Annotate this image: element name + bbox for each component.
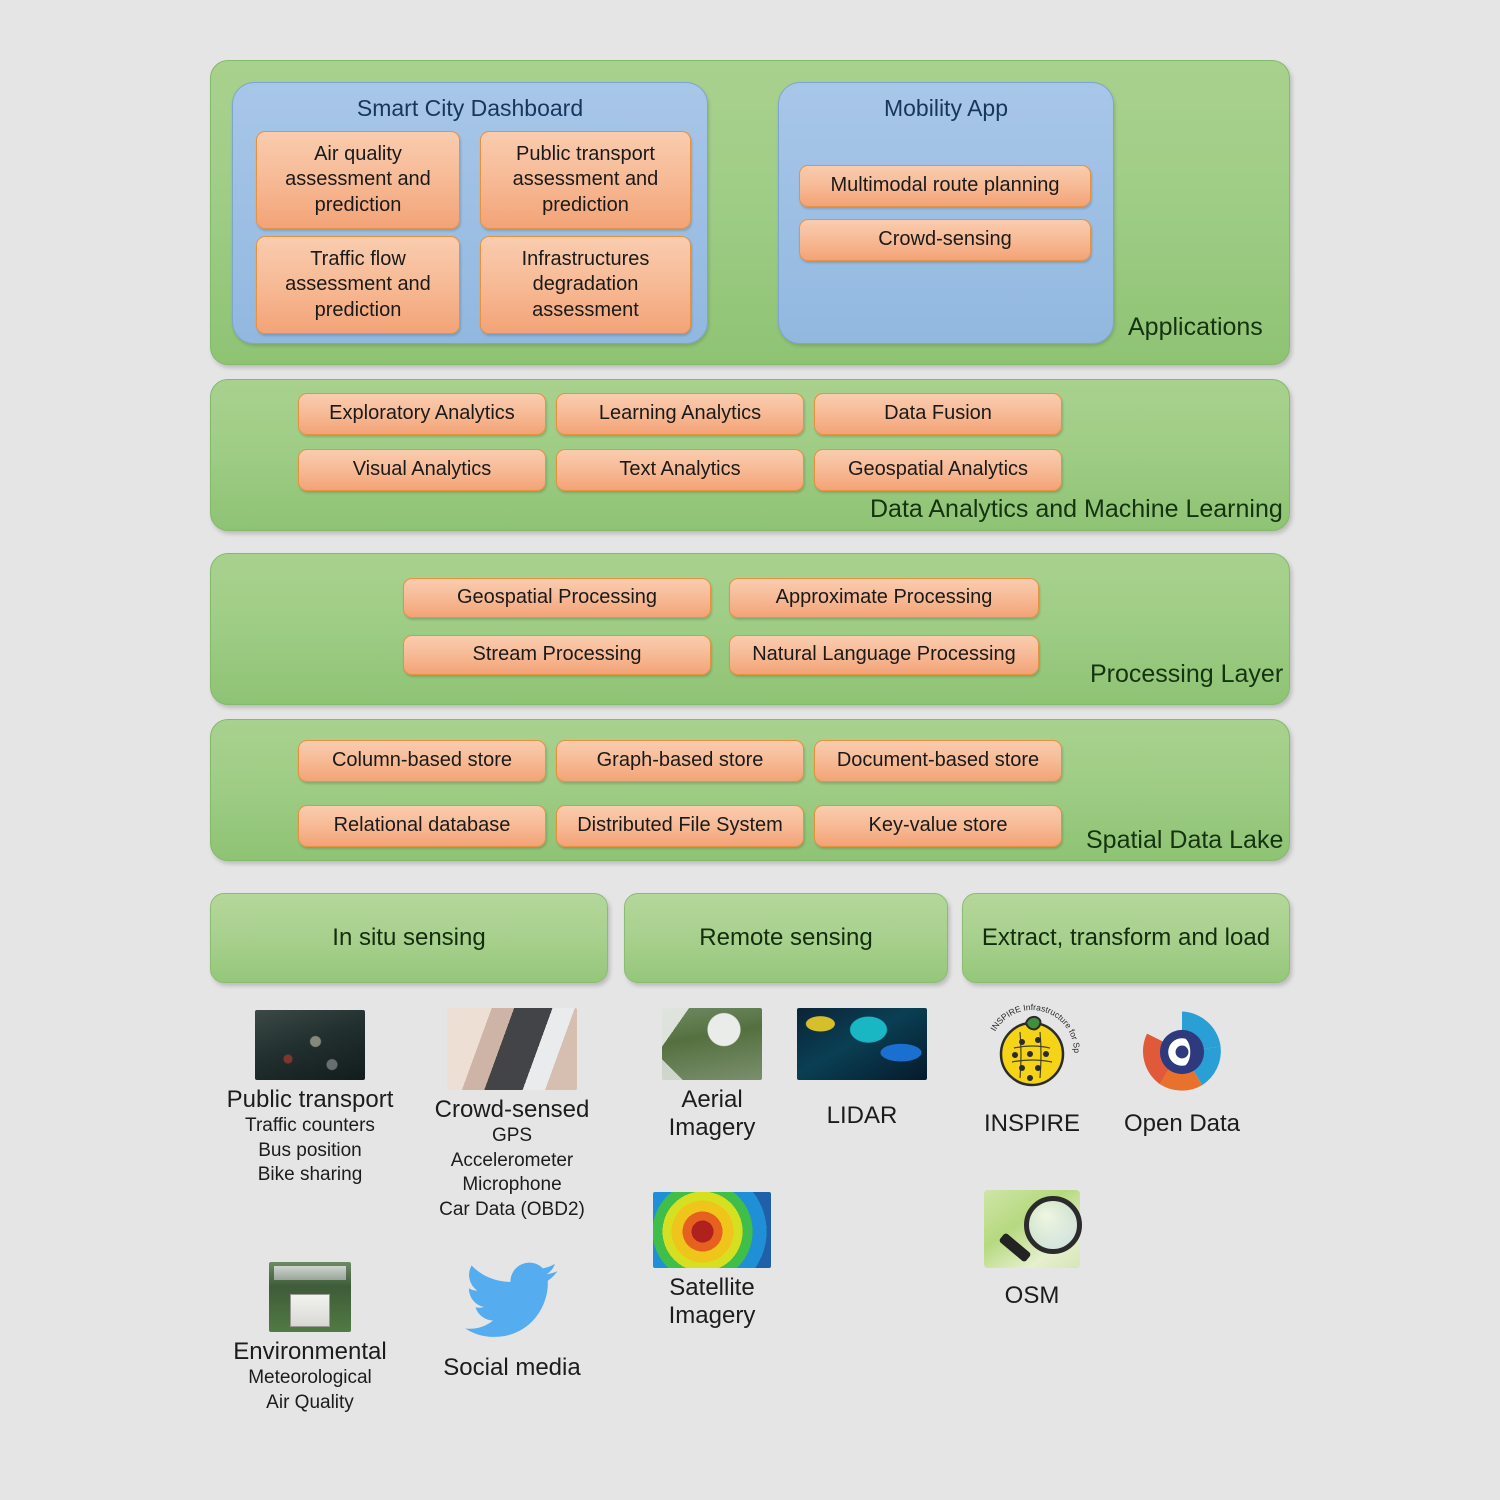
category-etl[interactable]: Extract, transform and load xyxy=(962,893,1290,983)
source-social-media: Social media xyxy=(412,1262,612,1382)
app-item-traffic-flow[interactable]: Traffic flow assessment and prediction xyxy=(256,236,460,334)
osm-map-magnifier-icon xyxy=(984,1190,1080,1268)
analytics-item-text-analytics[interactable]: Text Analytics xyxy=(556,449,804,491)
datalake-item-distributed-file-system[interactable]: Distributed File System xyxy=(556,805,804,847)
lidar-photo-icon xyxy=(797,1008,927,1080)
layer-label-applications: Applications xyxy=(1128,313,1263,342)
magnifier-lens-icon xyxy=(1024,1196,1082,1254)
source-title-social-media: Social media xyxy=(412,1354,612,1382)
datalake-item-document-based-store[interactable]: Document-based store xyxy=(814,740,1062,782)
open-data-logo-icon xyxy=(1136,1006,1228,1098)
weather-station-photo-icon xyxy=(269,1262,351,1332)
analytics-item-geospatial-analytics[interactable]: Geospatial Analytics xyxy=(814,449,1062,491)
source-detail: Air Quality xyxy=(210,1391,410,1416)
source-detail: Microphone xyxy=(412,1173,612,1198)
category-in-situ-sensing[interactable]: In situ sensing xyxy=(210,893,608,983)
traffic-photo-icon xyxy=(255,1010,365,1080)
datalake-item-key-value-store[interactable]: Key-value store xyxy=(814,805,1062,847)
app-item-infrastructures-degradation[interactable]: Infrastructures degradation assessment xyxy=(480,236,691,334)
analytics-item-learning-analytics[interactable]: Learning Analytics xyxy=(556,393,804,435)
source-title-satellite-imagery: Satellite xyxy=(612,1274,812,1302)
source-title-osm: OSM xyxy=(932,1282,1132,1310)
category-remote-sensing[interactable]: Remote sensing xyxy=(624,893,948,983)
source-detail: Traffic counters xyxy=(210,1114,410,1139)
app-item-crowd-sensing[interactable]: Crowd-sensing xyxy=(799,219,1091,261)
source-public-transport: Public transport Traffic counters Bus po… xyxy=(210,1010,410,1188)
source-title-environmental: Environmental xyxy=(210,1338,410,1366)
source-title-open-data: Open Data xyxy=(1082,1110,1282,1138)
app-item-public-transport[interactable]: Public transport assessment and predicti… xyxy=(480,131,691,229)
group-title-mobility-app: Mobility App xyxy=(778,95,1114,122)
processing-item-approximate-processing[interactable]: Approximate Processing xyxy=(729,578,1039,618)
layer-label-spatial-data-lake: Spatial Data Lake xyxy=(1086,826,1283,855)
layer-label-processing: Processing Layer xyxy=(1090,660,1283,689)
source-environmental: Environmental Meteorological Air Quality xyxy=(210,1262,410,1415)
source-osm: OSM xyxy=(932,1190,1132,1310)
analytics-item-visual-analytics[interactable]: Visual Analytics xyxy=(298,449,546,491)
source-detail: Bus position xyxy=(210,1139,410,1164)
processing-item-geospatial-processing[interactable]: Geospatial Processing xyxy=(403,578,711,618)
processing-item-stream-processing[interactable]: Stream Processing xyxy=(403,635,711,675)
analytics-item-data-fusion[interactable]: Data Fusion xyxy=(814,393,1062,435)
source-title-crowd-sensed: Crowd-sensed xyxy=(412,1096,612,1124)
source-satellite-imagery: Satellite Imagery xyxy=(612,1192,812,1330)
datalake-item-column-based-store[interactable]: Column-based store xyxy=(298,740,546,782)
source-detail: GPS xyxy=(412,1124,612,1149)
analytics-item-exploratory-analytics[interactable]: Exploratory Analytics xyxy=(298,393,546,435)
source-title-satellite-imagery-line2: Imagery xyxy=(612,1302,812,1330)
source-crowd-sensed: Crowd-sensed GPS Accelerometer Microphon… xyxy=(412,1008,612,1223)
source-title-public-transport: Public transport xyxy=(210,1086,410,1114)
aerial-photo-icon xyxy=(662,1008,762,1080)
source-detail: Meteorological xyxy=(210,1366,410,1391)
smartphone-photo-icon xyxy=(447,1008,577,1090)
group-title-smart-city-dashboard: Smart City Dashboard xyxy=(232,95,708,122)
source-detail: Bike sharing xyxy=(210,1163,410,1188)
inspire-logo-icon: INSPIRE Infrastructure for Spatial Infor… xyxy=(982,1002,1082,1102)
source-detail: Car Data (OBD2) xyxy=(412,1198,612,1223)
app-item-multimodal-route-planning[interactable]: Multimodal route planning xyxy=(799,165,1091,207)
processing-item-natural-language-processing[interactable]: Natural Language Processing xyxy=(729,635,1039,675)
satellite-photo-icon xyxy=(653,1192,771,1268)
source-detail: Accelerometer xyxy=(412,1149,612,1174)
layer-label-data-analytics: Data Analytics and Machine Learning xyxy=(870,495,1283,524)
source-open-data: Open Data xyxy=(1082,1006,1282,1138)
datalake-item-relational-database[interactable]: Relational database xyxy=(298,805,546,847)
app-item-air-quality[interactable]: Air quality assessment and prediction xyxy=(256,131,460,229)
twitter-bird-icon xyxy=(465,1262,559,1340)
datalake-item-graph-based-store[interactable]: Graph-based store xyxy=(556,740,804,782)
